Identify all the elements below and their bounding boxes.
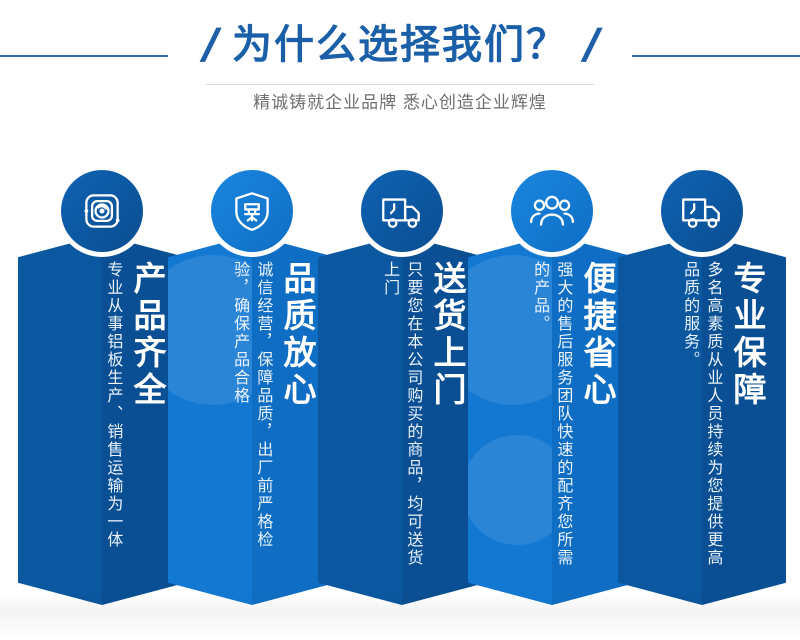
panel-description: 多名高素质从业人员持续为您提供更高品质的服务。 (678, 261, 724, 571)
promo-banner: / 为什么选择我们？ / 精诚铸就企业品牌 悉心创造企业辉煌 (0, 0, 800, 640)
title-row: / 为什么选择我们？ / (0, 14, 800, 76)
panel-icon-badge (656, 165, 748, 257)
delivery-truck-icon (361, 170, 443, 252)
subtitle-divider (206, 84, 594, 85)
panel-description: 强大的售后服务团队快速的配齐您所需的产品。 (528, 261, 574, 571)
panel-icon-badge (506, 165, 598, 257)
feature-panel[interactable]: 品质放心 诚信经营，保障品质，出厂前严格检验，确保产品合格 (168, 165, 336, 605)
panel-icon-badge (56, 165, 148, 257)
banner-header: / 为什么选择我们？ / 精诚铸就企业品牌 悉心创造企业辉煌 (0, 0, 800, 130)
panel-text: 品质放心 诚信经营，保障品质，出厂前严格检验，确保产品合格 (168, 261, 336, 591)
panel-description: 诚信经营，保障品质，出厂前严格检验，确保产品合格 (228, 261, 274, 571)
people-group-icon (511, 170, 593, 252)
page-subtitle: 精诚铸就企业品牌 悉心创造企业辉煌 (0, 88, 800, 113)
panel-title: 送货上门 (430, 261, 464, 409)
delivery-truck-icon (661, 170, 743, 252)
feature-panel[interactable]: 便捷省心 强大的售后服务团队快速的配齐您所需的产品。 (468, 165, 636, 605)
feature-panel[interactable]: 送货上门 只要您在本公司购买的商品，均可送货上门 (318, 165, 486, 605)
panel-description: 专业从事铝板生产、销售运输为一体 (101, 261, 124, 549)
feature-panel[interactable]: 专业保障 多名高素质从业人员持续为您提供更高品质的服务。 (618, 165, 786, 605)
shield-quality-icon (211, 170, 293, 252)
feature-panel[interactable]: 产品齐全 专业从事铝板生产、销售运输为一体 (18, 165, 186, 605)
panel-text: 送货上门 只要您在本公司购买的商品，均可送货上门 (318, 261, 486, 591)
panel-title: 专业保障 (730, 261, 764, 409)
slash-left-icon: / (201, 22, 219, 68)
page-title: 为什么选择我们？ (232, 25, 568, 65)
panel-title: 便捷省心 (580, 261, 614, 409)
panel-title: 品质放心 (280, 261, 314, 409)
feature-panel-list: 产品齐全 专业从事铝板生产、销售运输为一体 (0, 165, 800, 605)
panel-text: 专业保障 多名高素质从业人员持续为您提供更高品质的服务。 (618, 261, 786, 591)
panel-title: 产品齐全 (130, 261, 164, 409)
panel-icon-badge (356, 165, 448, 257)
slash-right-icon: / (582, 22, 600, 68)
safe-vault-icon (61, 170, 143, 252)
panel-text: 便捷省心 强大的售后服务团队快速的配齐您所需的产品。 (468, 261, 636, 591)
panel-icon-badge (206, 165, 298, 257)
panel-description: 只要您在本公司购买的商品，均可送货上门 (378, 261, 424, 571)
panel-text: 产品齐全 专业从事铝板生产、销售运输为一体 (18, 261, 186, 591)
